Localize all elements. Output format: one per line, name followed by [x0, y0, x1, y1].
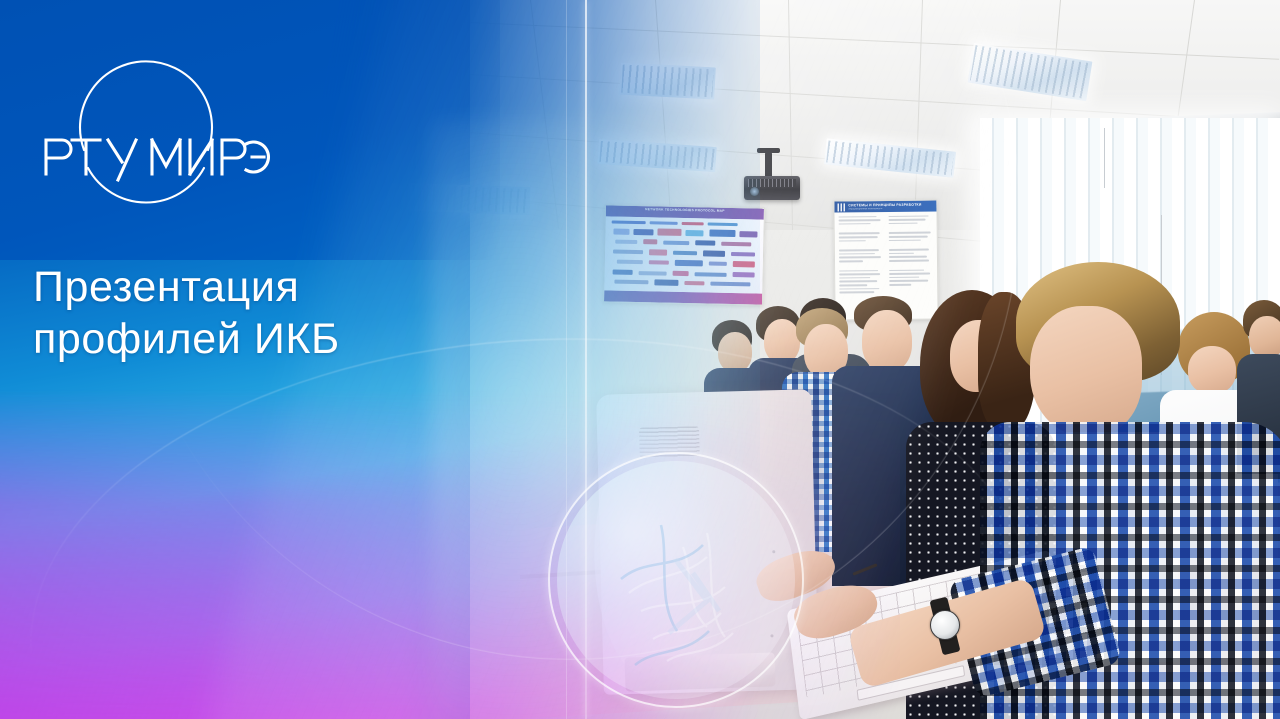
translucent-globe	[548, 452, 804, 708]
slide-title: Презентация профилей ИКБ	[33, 262, 553, 365]
face	[1030, 306, 1142, 436]
blind-cord	[1104, 128, 1105, 188]
presentation-slide: NETWORK TECHNOLOGIES PROTOCOL MAP	[0, 0, 1280, 719]
globe-outline-ring	[548, 452, 804, 708]
rtu-mirea-logo[interactable]	[26, 32, 266, 182]
